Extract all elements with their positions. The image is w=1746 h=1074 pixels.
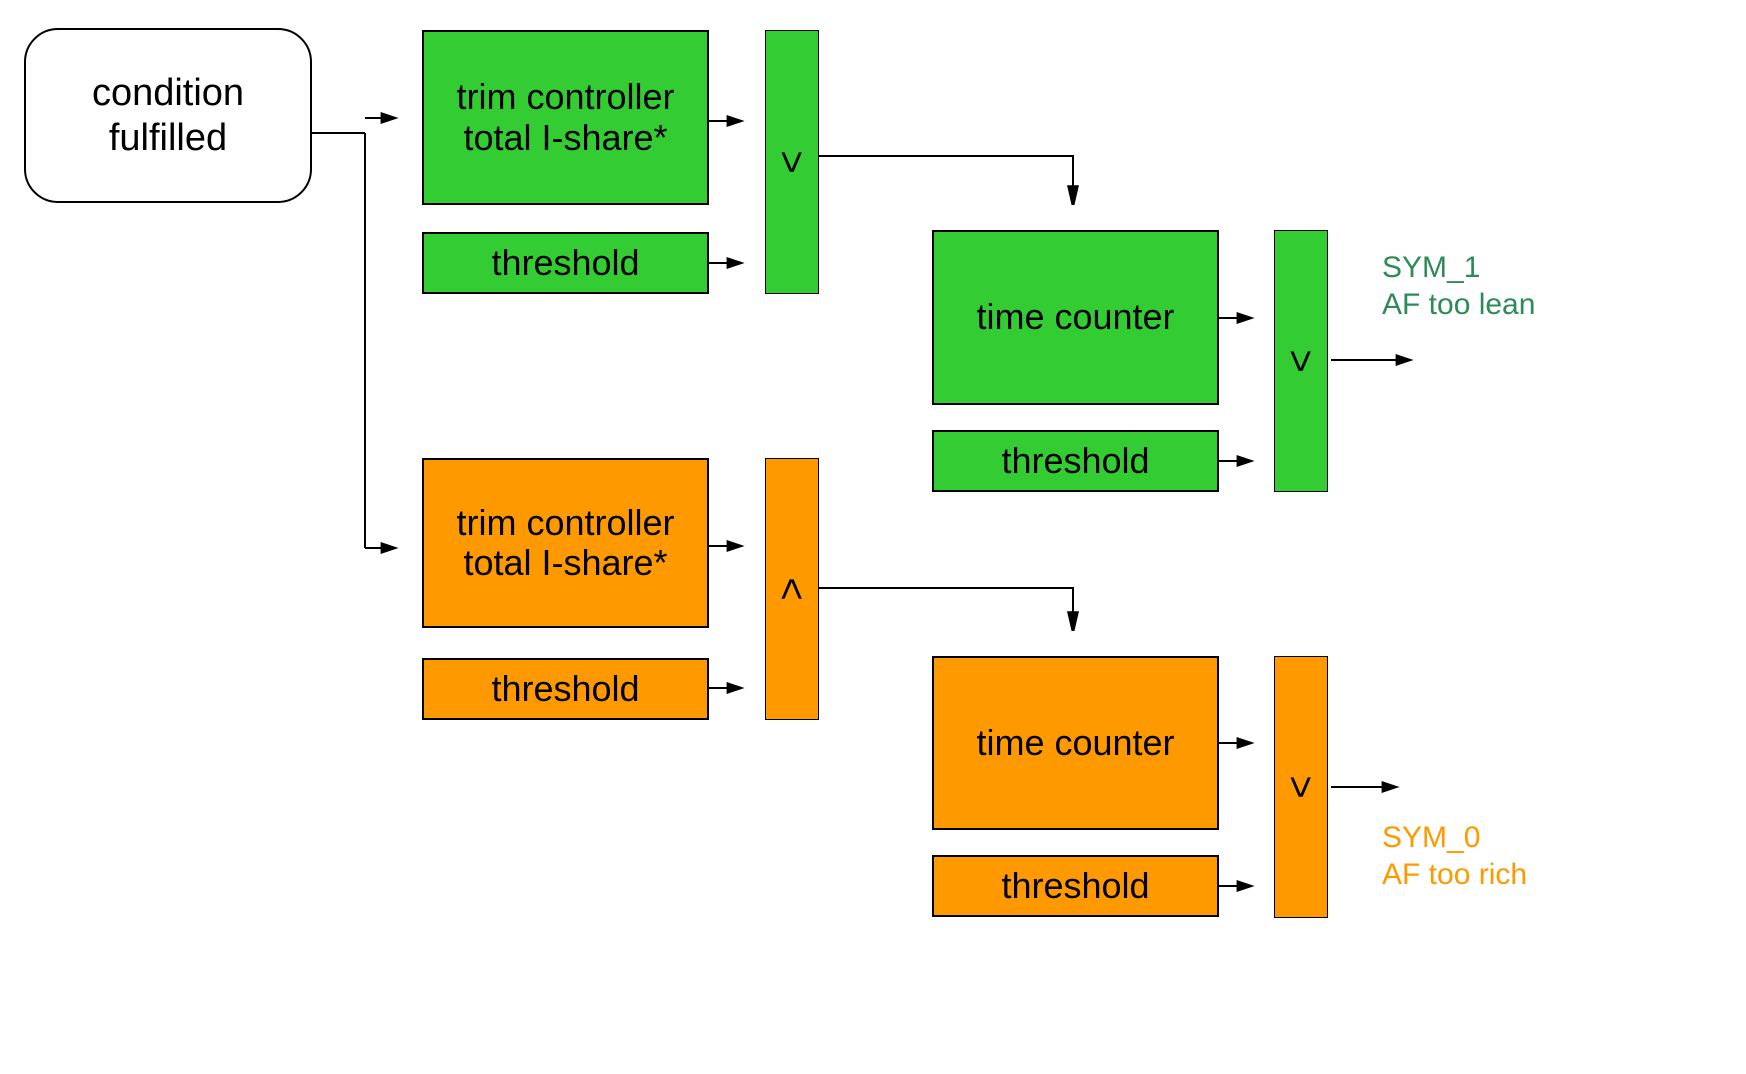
rich-trim-controller-block[interactable]: trim controller total I-share* <box>422 458 709 628</box>
lean-comparator-2: > <box>1274 230 1328 492</box>
lean-comparator-1-symbol: > <box>772 150 812 173</box>
rich-output-label: SYM_0 AF too rich <box>1382 820 1527 893</box>
start-node-condition-fulfilled[interactable]: condition fulfilled <box>24 28 312 203</box>
lean-threshold-1-block[interactable]: threshold <box>422 232 709 294</box>
lean-time-counter-block[interactable]: time counter <box>932 230 1219 405</box>
rich-threshold-1-block[interactable]: threshold <box>422 658 709 720</box>
diagram-canvas: condition fulfilled trim controller tota… <box>0 0 1746 1074</box>
rich-comparator-1: < <box>765 458 819 720</box>
rich-threshold-2-block[interactable]: threshold <box>932 855 1219 917</box>
lean-comparator-1: > <box>765 30 819 294</box>
rich-comparator-1-symbol: < <box>772 577 812 600</box>
lean-output-label: SYM_1 AF too lean <box>1382 250 1535 323</box>
rich-comparator-2-symbol: > <box>1281 775 1321 798</box>
lean-threshold-2-block[interactable]: threshold <box>932 430 1219 492</box>
lean-trim-controller-block[interactable]: trim controller total I-share* <box>422 30 709 205</box>
rich-comparator-2: > <box>1274 656 1328 918</box>
lean-comparator-2-symbol: > <box>1281 349 1321 372</box>
rich-time-counter-block[interactable]: time counter <box>932 656 1219 830</box>
